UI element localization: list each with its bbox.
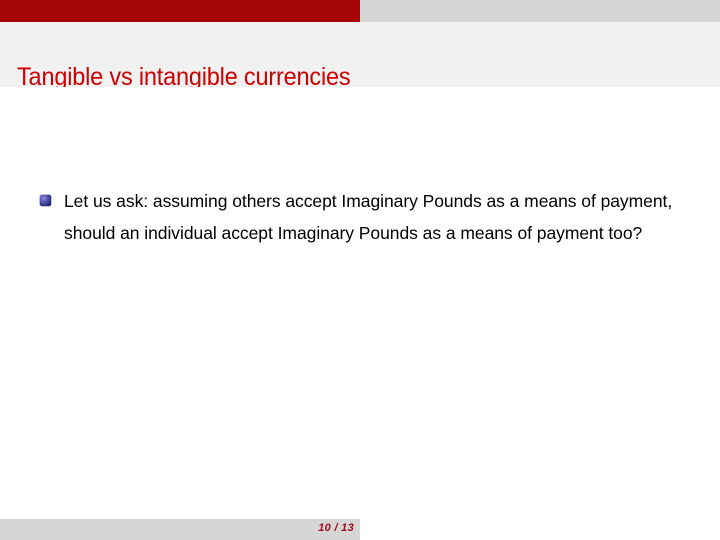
bullet-item-text: Let us ask: assuming others accept Imagi…	[64, 185, 690, 249]
title-band: Tangible vs intangible currencies	[0, 22, 720, 87]
blue-square-bullet-icon	[40, 195, 51, 206]
page-number: 10 / 13	[318, 522, 354, 534]
slide-footer-bar: 10 / 13	[0, 519, 360, 540]
slide-body: Let us ask: assuming others accept Imagi…	[0, 87, 720, 519]
presentation-slide: Tangible vs intangible currencies Let us…	[0, 0, 720, 540]
bullet-list-item: Let us ask: assuming others accept Imagi…	[40, 185, 690, 249]
top-decoration-bar	[0, 0, 720, 22]
top-accent-block	[0, 0, 360, 22]
